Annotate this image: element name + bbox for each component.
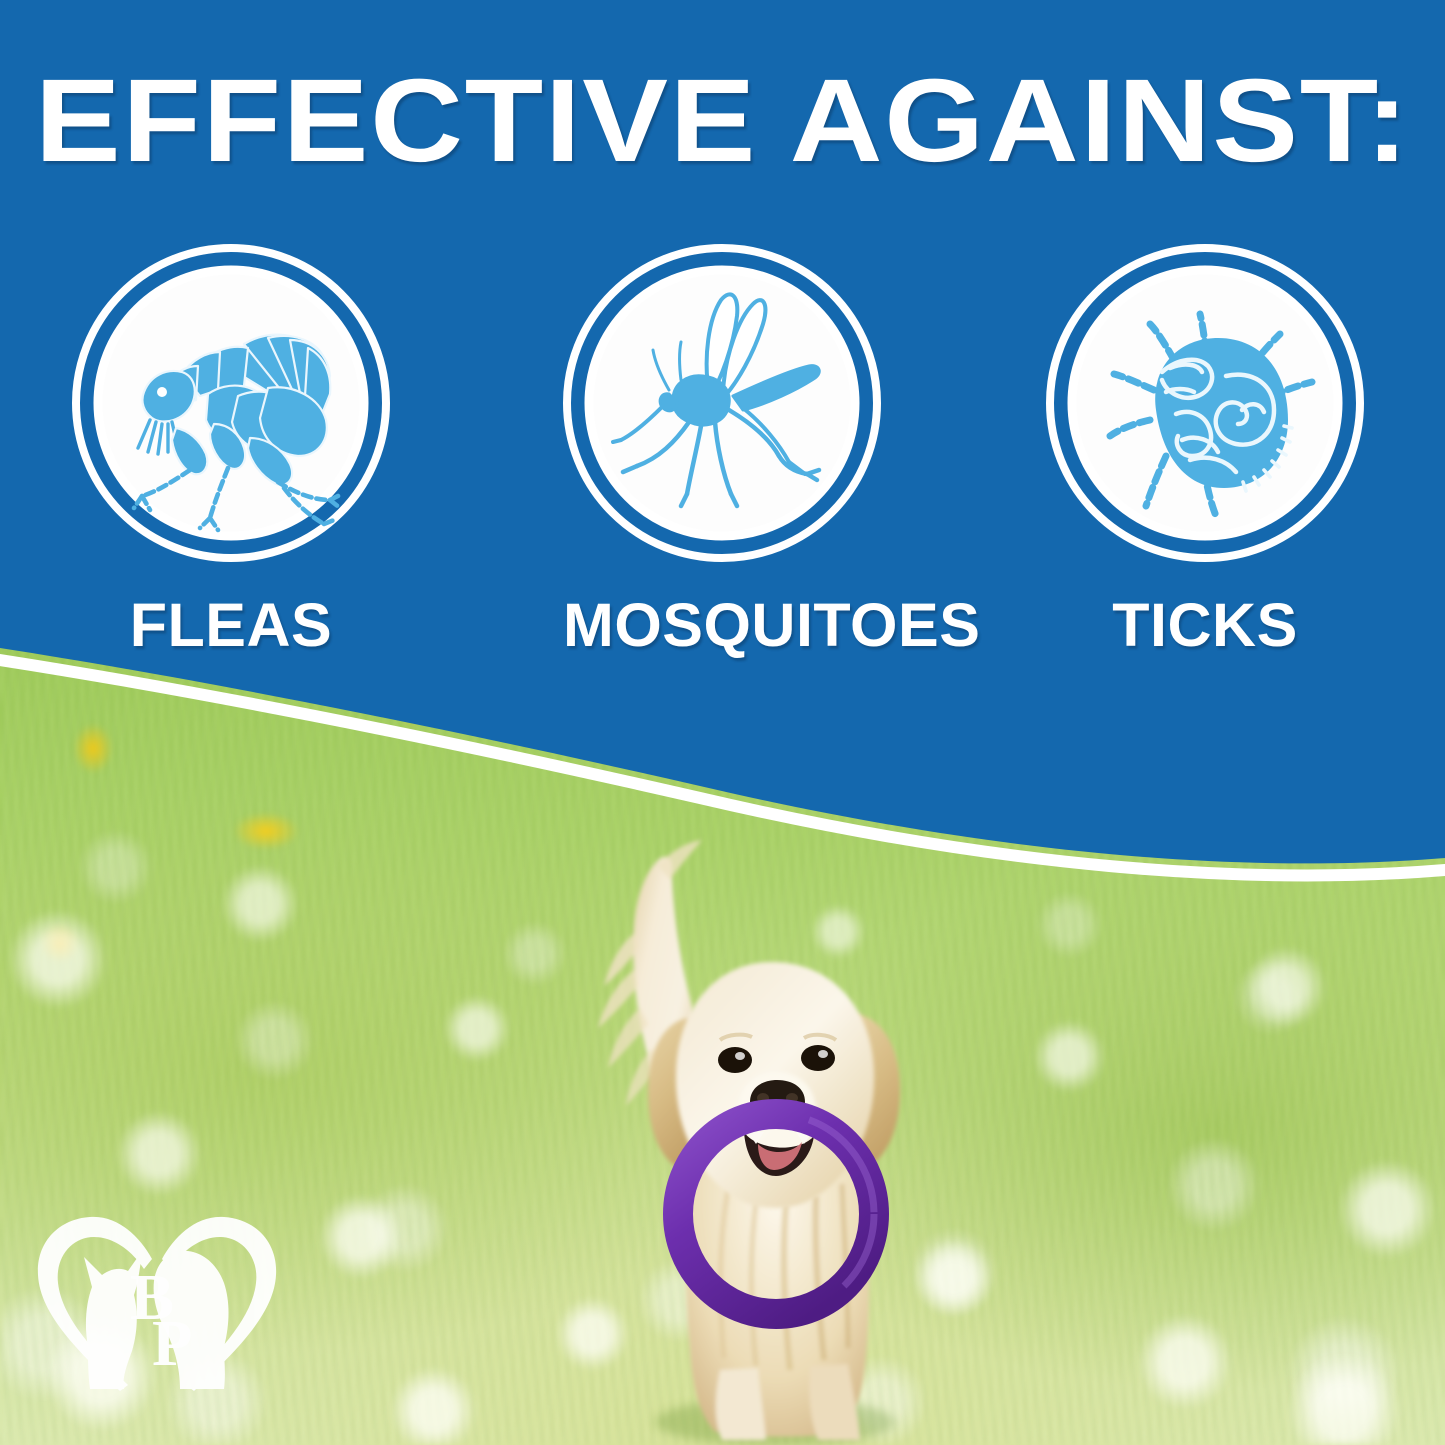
pest-icon-row: FLEAS — [0, 244, 1445, 664]
mosquito-icon — [563, 244, 881, 562]
pest-item-fleas[interactable]: FLEAS — [72, 244, 390, 656]
ad-banner: EFFECTIVE AGAINST: — [0, 0, 1445, 1445]
golden-retriever — [560, 810, 980, 1445]
page-title: EFFECTIVE AGAINST: — [0, 62, 1445, 180]
pest-item-mosquitoes[interactable]: MOSQUITOES — [563, 244, 881, 656]
pest-label-ticks: TICKS — [1046, 595, 1364, 656]
tick-icon — [1046, 244, 1364, 562]
flea-icon — [72, 244, 390, 562]
pest-item-ticks[interactable]: TICKS — [1046, 244, 1364, 656]
pest-label-mosquitoes: MOSQUITOES — [563, 595, 881, 656]
heart-cat-dog-logo[interactable]: B P — [28, 1207, 286, 1397]
pest-label-fleas: FLEAS — [72, 595, 390, 656]
logo-monogram-p: P — [152, 1307, 192, 1380]
